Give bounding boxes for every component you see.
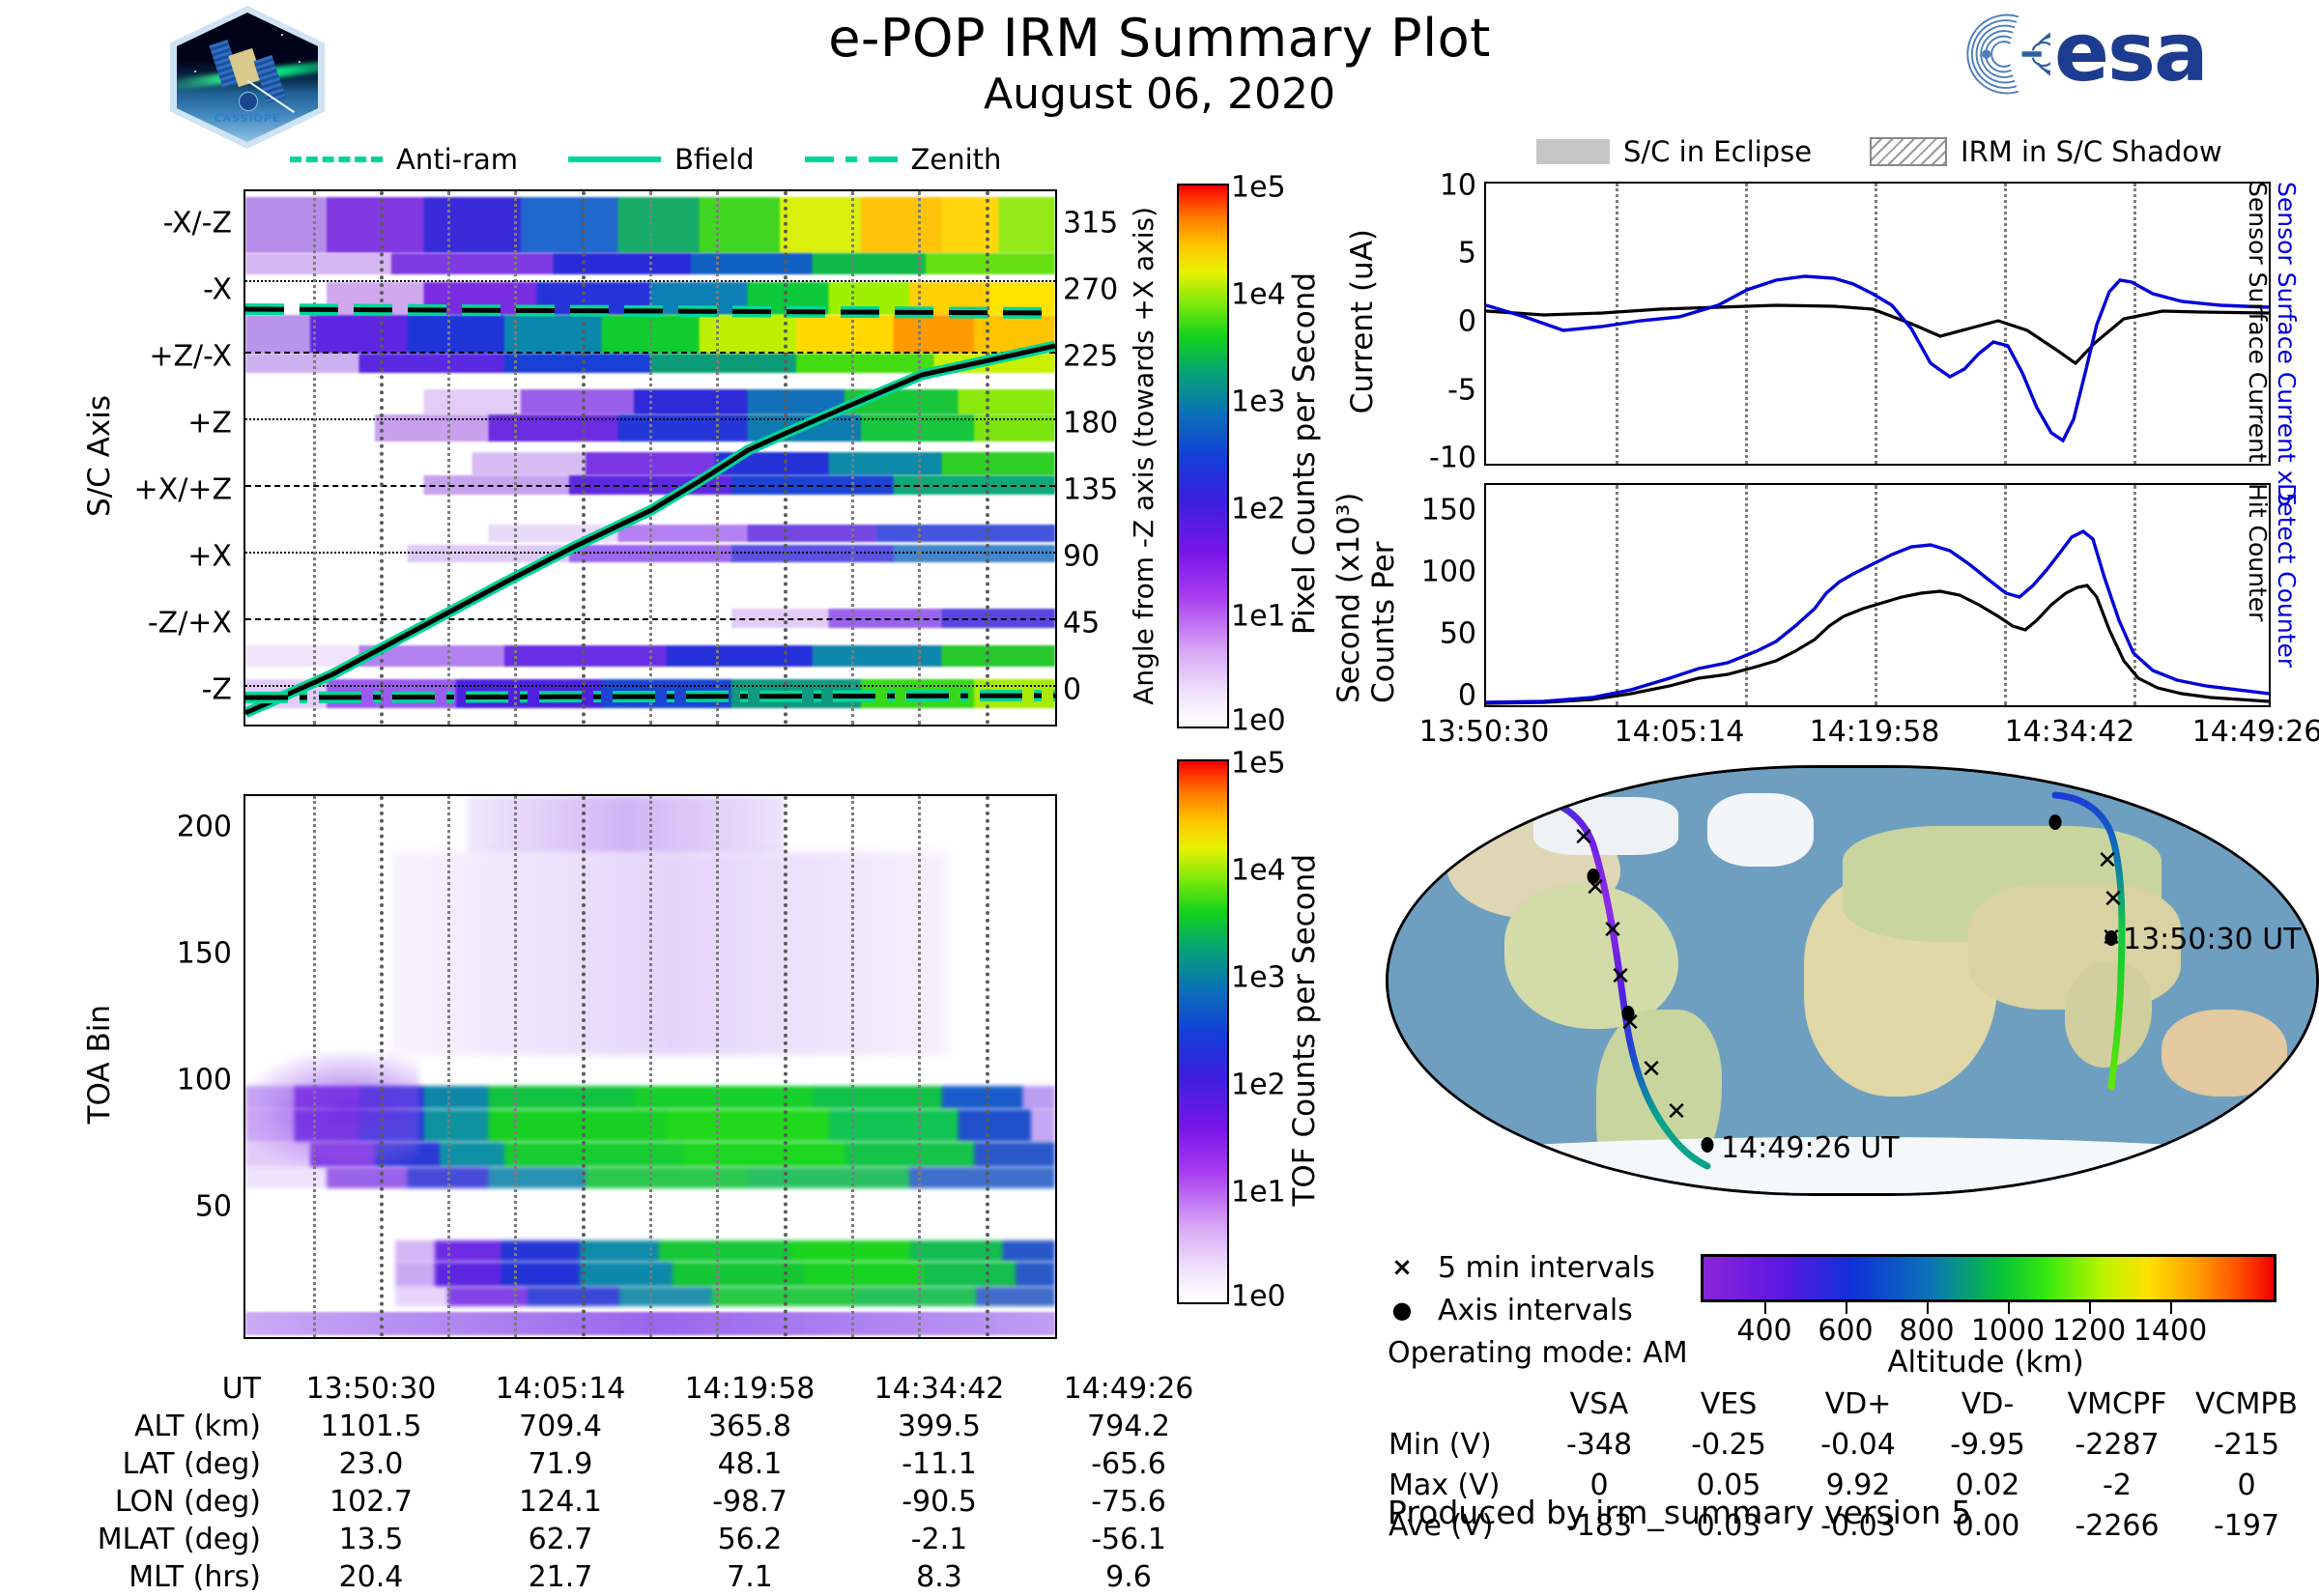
- cell: 365.8: [655, 1408, 845, 1445]
- table-row: MLT (hrs) 20.4 21.7 7.1 8.3 9.6: [58, 1558, 1223, 1596]
- x-marker-icon: ×: [1388, 1253, 1417, 1282]
- column-header: VMCPF: [2052, 1383, 2182, 1424]
- counter-rates-plot[interactable]: [1484, 483, 2271, 707]
- cell: 709.4: [466, 1408, 655, 1445]
- cell: 399.5: [845, 1408, 1034, 1445]
- interval-marker-x: ✕: [1602, 918, 1623, 943]
- sensor-current-black-trace: [1486, 305, 2269, 363]
- pixel-counts-colorbar-label: Pixel Counts per Second: [1285, 184, 1324, 725]
- operating-mode: Operating mode: AM: [1388, 1331, 1688, 1374]
- cell: -2287: [2052, 1424, 2182, 1465]
- interval-marker-x: ✕: [1666, 1099, 1687, 1125]
- cell: 21.7: [466, 1558, 655, 1596]
- legend-item-5min: × 5 min intervals: [1388, 1246, 1688, 1289]
- tof-counts-colorbar-label: TOF Counts per Second: [1285, 759, 1324, 1300]
- interval-marker-x: ✕: [1573, 825, 1594, 850]
- counts-right-label-blue: Detect Counter: [2273, 483, 2307, 703]
- table-row: UT 13:50:30 14:05:14 14:19:58 14:34:42 1…: [58, 1370, 1223, 1408]
- cell: 14:34:42: [845, 1370, 1034, 1408]
- row-label: LON (deg): [58, 1483, 276, 1521]
- toa-secondary-band: [395, 1287, 1055, 1306]
- right-time-axis: 13:50:30 14:05:14 14:19:58 14:34:42 14:4…: [1484, 715, 2267, 754]
- cell: 14:19:58: [655, 1370, 845, 1408]
- anti-ram-line-swatch: [290, 157, 383, 162]
- legend-item-shadow: IRM in S/C Shadow: [1870, 135, 2222, 168]
- hit-counter-trace: [1486, 585, 2269, 703]
- current-ylabel: Current (uA): [1345, 182, 1380, 462]
- table-row: MLAT (deg) 13.5 62.7 56.2 -2.1 -56.1: [58, 1521, 1223, 1558]
- cell: -98.7: [655, 1483, 845, 1521]
- cell: 13.5: [276, 1521, 466, 1558]
- detect-counter-trace: [1486, 531, 2269, 702]
- cell: -2: [2052, 1465, 2182, 1505]
- cell: -2266: [2052, 1505, 2182, 1546]
- legend-label-axis: Axis intervals: [1438, 1294, 1633, 1327]
- row-label: MLAT (deg): [58, 1521, 276, 1558]
- row-label: MLT (hrs): [58, 1558, 276, 1596]
- cell: 71.9: [466, 1445, 655, 1483]
- orbit-start-marker: [2105, 930, 2118, 946]
- column-header: VES: [1664, 1383, 1793, 1424]
- altitude-colorbar-label: Altitude (km): [1701, 1345, 2271, 1380]
- interval-marker-x: ✕: [1641, 1057, 1662, 1082]
- altitude-colorbar: [1701, 1254, 2276, 1302]
- interval-marker-x: ✕: [2103, 887, 2124, 912]
- sc-axis-ylabel: S/C Axis: [83, 189, 116, 723]
- bfield-line-swatch: [568, 157, 661, 162]
- table-row: LON (deg) 102.7 124.1 -98.7 -90.5 -75.6: [58, 1483, 1223, 1521]
- sc-angle-axis-label: Angle from -Z axis (towards +X axis): [1127, 189, 1159, 723]
- toa-secondary-band: [395, 1240, 1055, 1262]
- sensor-current-blue-trace: [1486, 276, 2269, 441]
- map-legend: × 5 min intervals ● Axis intervals Opera…: [1388, 1246, 1688, 1374]
- cell: 23.0: [276, 1445, 466, 1483]
- cell: 124.1: [466, 1483, 655, 1521]
- altitude-colorbar-ticks: 400 600 800 1000 1200 1400: [1701, 1302, 2271, 1347]
- cell: 20.4: [276, 1558, 466, 1596]
- cell: -0.25: [1664, 1424, 1793, 1465]
- toa-ylabel: TOA Bin: [83, 794, 116, 1335]
- table-row: Min (V) -348 -0.25 -0.04 -9.95 -2287 -21…: [1388, 1424, 2311, 1465]
- table-row: ALT (km) 1101.5 709.4 365.8 399.5 794.2: [58, 1408, 1223, 1445]
- cell: 9.6: [1034, 1558, 1223, 1596]
- interval-marker-x: ✕: [1619, 1011, 1641, 1036]
- row-label: LAT (deg): [58, 1445, 276, 1483]
- sc-axis-ytick-labels: -X/-Z -X +Z/-X +Z +X/+Z +X -Z/+X -Z: [116, 189, 232, 723]
- legend-label-5min: 5 min intervals: [1438, 1251, 1655, 1285]
- cell: -215: [2182, 1424, 2311, 1465]
- toa-haze: [390, 852, 949, 1055]
- axis-interval-marker: [2049, 814, 2062, 830]
- cell: 56.2: [655, 1521, 845, 1558]
- left-time-axis: [243, 1331, 1053, 1370]
- column-header: VCMPB: [2182, 1383, 2311, 1424]
- cell: 7.1: [655, 1558, 845, 1596]
- zenith-line-swatch: [805, 157, 898, 162]
- toa-spectrogram[interactable]: [243, 794, 1057, 1339]
- interval-marker-x: ✕: [2097, 848, 2118, 873]
- cell: 48.1: [655, 1445, 845, 1483]
- interval-marker-x: ✕: [1610, 964, 1631, 989]
- legend-item-eclipse: S/C in Eclipse: [1536, 135, 1812, 168]
- row-label: Min (V): [1388, 1424, 1534, 1465]
- legend-label-anti-ram: Anti-ram: [396, 143, 518, 176]
- table-header-row: VSA VES VD+ VD- VMCPF VCMPB: [1388, 1383, 2311, 1424]
- legend-item-bfield: Bfield: [568, 143, 754, 176]
- esa-emblem-icon: [1961, 10, 2050, 99]
- esa-wordmark: esa: [2054, 6, 2207, 99]
- cell: 0: [2182, 1465, 2311, 1505]
- legend-label-bfield: Bfield: [674, 143, 754, 176]
- eclipse-legend: S/C in Eclipse IRM in S/C Shadow: [1536, 135, 2222, 168]
- cell: 13:50:30: [276, 1370, 466, 1408]
- cell: -56.1: [1034, 1521, 1223, 1558]
- sc-axis-spectrogram[interactable]: [243, 189, 1057, 727]
- esa-logo: esa: [1961, 8, 2251, 100]
- ground-track-map[interactable]: ✕ ✕ ✕ ✕ ✕ ✕ ✕ ✕ ✕ ✕ ✕ 13:50:30 UT 14:49:…: [1368, 759, 2319, 1213]
- cell: 14:49:26: [1034, 1370, 1223, 1408]
- cell: -0.04: [1793, 1424, 1923, 1465]
- cell: -2.1: [845, 1521, 1034, 1558]
- interval-marker-x: ✕: [1511, 788, 1532, 813]
- current-ytick-labels: 10 5 0 -5 -10: [1380, 182, 1476, 462]
- cell: -75.6: [1034, 1483, 1223, 1521]
- cell: 1101.5: [276, 1408, 466, 1445]
- map-end-time-label: 14:49:26 UT: [1721, 1131, 1900, 1165]
- cell: -9.95: [1923, 1424, 2052, 1465]
- legend-label-shadow: IRM in S/C Shadow: [1961, 135, 2222, 168]
- orbit-end-marker: [1702, 1137, 1714, 1153]
- cell: 794.2: [1034, 1408, 1223, 1445]
- cell: 14:05:14: [466, 1370, 655, 1408]
- cell: -65.6: [1034, 1445, 1223, 1483]
- current-right-label-black: Sensor Surface Current: [2244, 182, 2276, 462]
- world-map: ✕ ✕ ✕ ✕ ✕ ✕ ✕ ✕ ✕ ✕ ✕ 13:50:30 UT 14:49:…: [1386, 765, 2319, 1196]
- counts-right-label-black: Hit Counter: [2244, 483, 2276, 703]
- current-right-label-blue: Sensor Surface Current x 5: [2273, 182, 2307, 462]
- legend-item-anti-ram: Anti-ram: [290, 143, 518, 176]
- legend-label-eclipse: S/C in Eclipse: [1623, 135, 1812, 168]
- column-header: VSA: [1534, 1383, 1664, 1424]
- column-header: VD-: [1923, 1383, 2052, 1424]
- dot-marker-icon: ●: [1388, 1297, 1417, 1324]
- toa-early-blob: [245, 1052, 419, 1168]
- spectrogram-legend: Anti-ram Bfield Zenith: [290, 143, 1001, 176]
- toa-ytick-labels: 200 150 100 50: [116, 794, 232, 1335]
- cell: -90.5: [845, 1483, 1034, 1521]
- cell: 8.3: [845, 1558, 1034, 1596]
- pixel-counts-colorbar: [1177, 184, 1229, 728]
- legend-item-axis: ● Axis intervals: [1388, 1289, 1688, 1331]
- toa-secondary-band: [395, 1262, 1055, 1287]
- eclipse-swatch: [1536, 139, 1610, 164]
- row-label: UT: [58, 1370, 276, 1408]
- legend-label-zenith: Zenith: [911, 143, 1002, 176]
- shadow-hatch-swatch: [1870, 137, 1947, 166]
- cassiope-mission-patch-icon: CASSIOPE: [170, 6, 325, 149]
- sc-angle-ytick-labels: 315 270 225 180 135 90 45 0: [1063, 189, 1179, 723]
- row-label: ALT (km): [58, 1408, 276, 1445]
- ephemeris-table: UT 13:50:30 14:05:14 14:19:58 14:34:42 1…: [58, 1370, 1223, 1596]
- cell: -348: [1534, 1424, 1664, 1465]
- table-row: LAT (deg) 23.0 71.9 48.1 -11.1 -65.6: [58, 1445, 1223, 1483]
- counts-ytick-labels: 150 100 50 0: [1380, 483, 1476, 703]
- cell: -11.1: [845, 1445, 1034, 1483]
- cell: 62.7: [466, 1521, 655, 1558]
- column-header: VD+: [1793, 1383, 1923, 1424]
- tof-counts-colorbar: [1177, 759, 1229, 1304]
- sensor-current-plot[interactable]: [1484, 182, 2271, 466]
- cell: 102.7: [276, 1483, 466, 1521]
- legend-item-zenith: Zenith: [805, 143, 1002, 176]
- footer-text: Produced by irm_summary version 5: [1388, 1494, 1971, 1531]
- map-start-time-label: 13:50:30 UT: [2123, 923, 2302, 956]
- cell: -197: [2182, 1505, 2311, 1546]
- interval-marker-x: ✕: [1585, 875, 1606, 900]
